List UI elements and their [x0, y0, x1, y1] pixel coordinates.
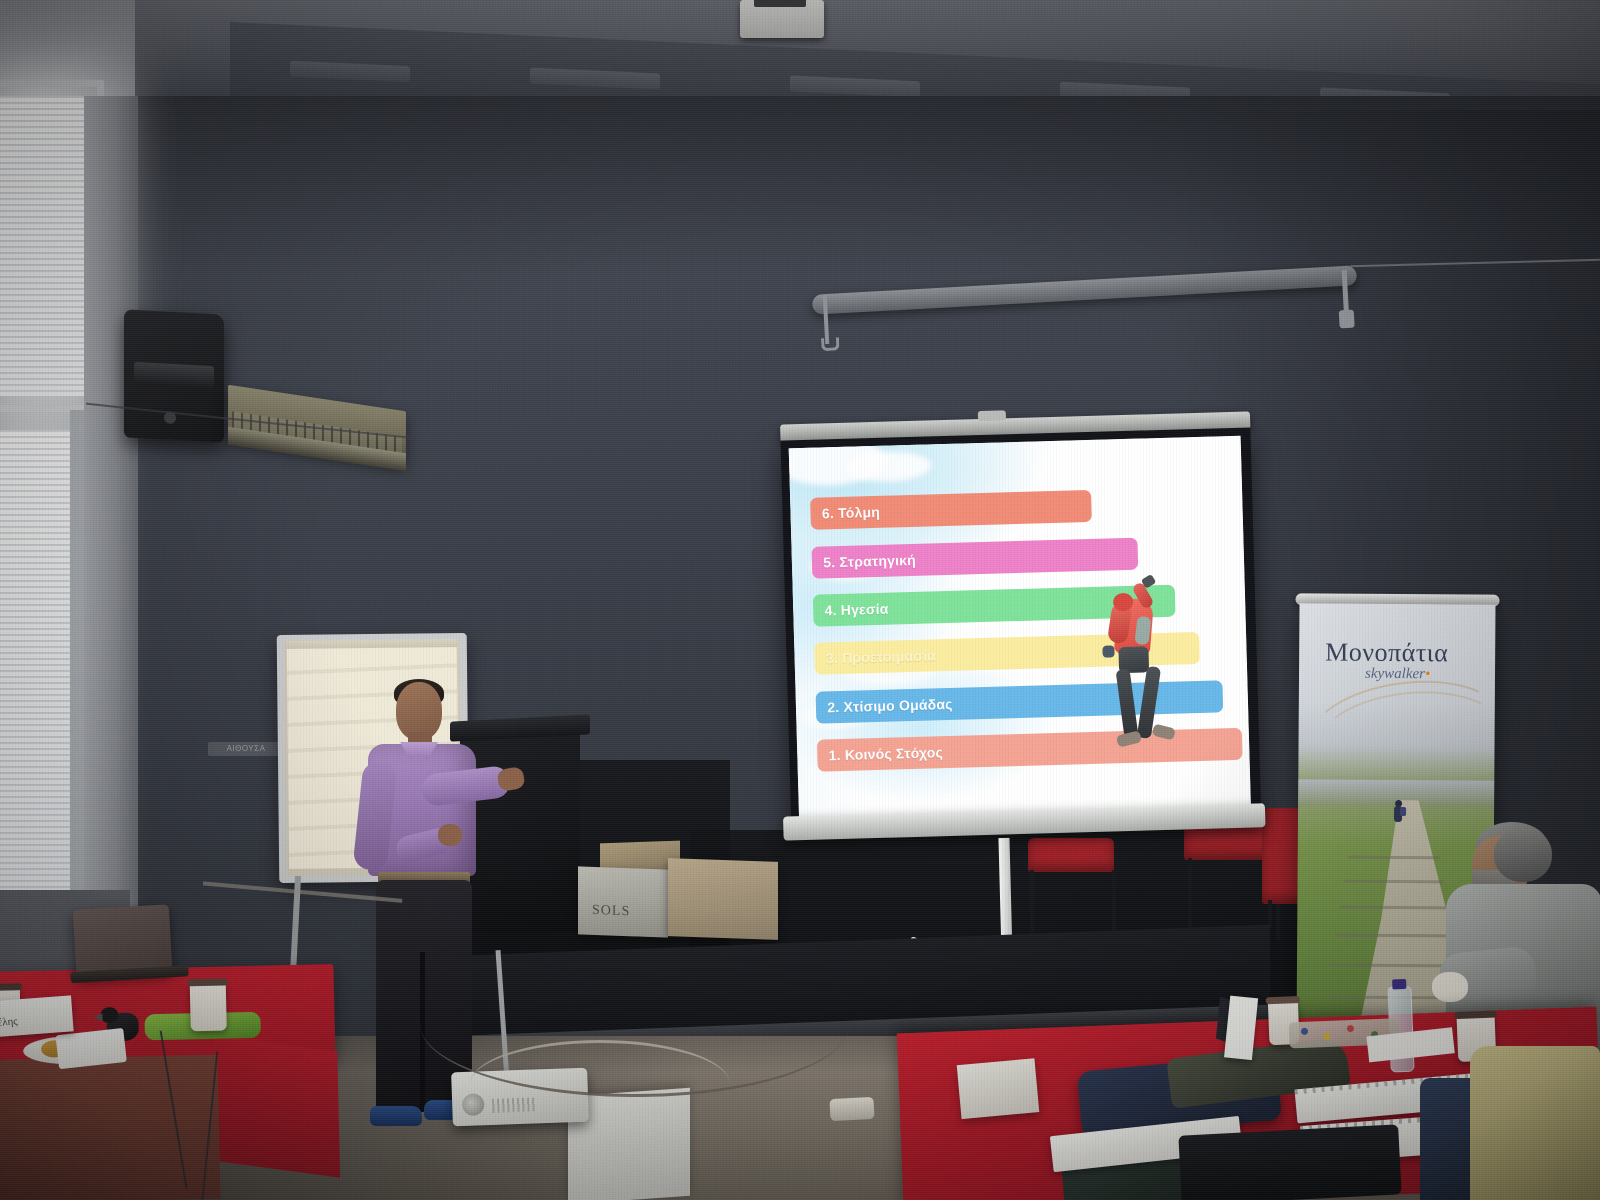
ceiling-light-icon [790, 75, 920, 97]
photo-scene: ΑΙΘΟΥΣΑ 6. Τόλμη5. Στρατηγική4. Ηγεσία3. [0, 0, 1600, 1200]
projection-screen: 6. Τόλμη5. Στρατηγική4. Ηγεσία3. Προετοι… [772, 411, 1266, 856]
banner-accent-dot: • [1425, 666, 1430, 682]
slide-bar-label: 1. Κοινός Στόχος [828, 744, 943, 763]
presenter-shoe [370, 1106, 422, 1126]
presenter-left-hand [438, 824, 462, 846]
screen-knob [978, 410, 1006, 421]
slide-bar-label: 4. Ηγεσία [824, 601, 888, 619]
foreground-chair [1470, 1046, 1600, 1200]
paper-box [957, 1058, 1040, 1119]
banner-subtitle: skywalker• [1365, 666, 1430, 683]
ceiling-projector-mount [740, 0, 824, 38]
table-left: Βαγγέλης [0, 964, 339, 1200]
window-mullion [70, 410, 84, 920]
path-step [1344, 880, 1444, 884]
floor-power-box [829, 1097, 874, 1121]
projector-vent [492, 1097, 536, 1113]
name-card-text: Βαγγέλης [0, 1015, 18, 1030]
table-flag-card [1214, 995, 1260, 1065]
ceiling-light-icon [290, 61, 410, 82]
slide-bar-label: 3. Προετοιμασία [826, 648, 936, 667]
attendee-hand [1432, 972, 1468, 1002]
banner-title: Μονοπάτια [1325, 638, 1448, 669]
ceiling-light-icon [530, 68, 660, 90]
window-lower [0, 430, 80, 900]
wall-sign: ΑΙΘΟΥΣΑ [208, 742, 284, 756]
laptop[interactable] [73, 904, 183, 984]
path-step [1348, 856, 1440, 860]
slide-canvas: 6. Τόλμη5. Στρατηγική4. Ηγεσία3. Προετοι… [789, 436, 1251, 820]
slide-bar-label: 2. Χτίσιμο Ομάδας [827, 696, 953, 715]
slide-bar-label: 5. Στρατηγική [823, 551, 916, 570]
climber-illustration [1089, 584, 1180, 776]
attendee-hair-back [1494, 828, 1552, 882]
foreground-bag [1178, 1124, 1401, 1200]
cardboard-box [668, 858, 778, 940]
banner-hiker-figure [1392, 800, 1404, 830]
box-label: SOLS [592, 903, 630, 920]
coffee-cup [190, 983, 227, 1032]
slide-bar-label: 6. Τόλμη [822, 504, 881, 522]
cardboard-box: SOLS [578, 866, 668, 937]
